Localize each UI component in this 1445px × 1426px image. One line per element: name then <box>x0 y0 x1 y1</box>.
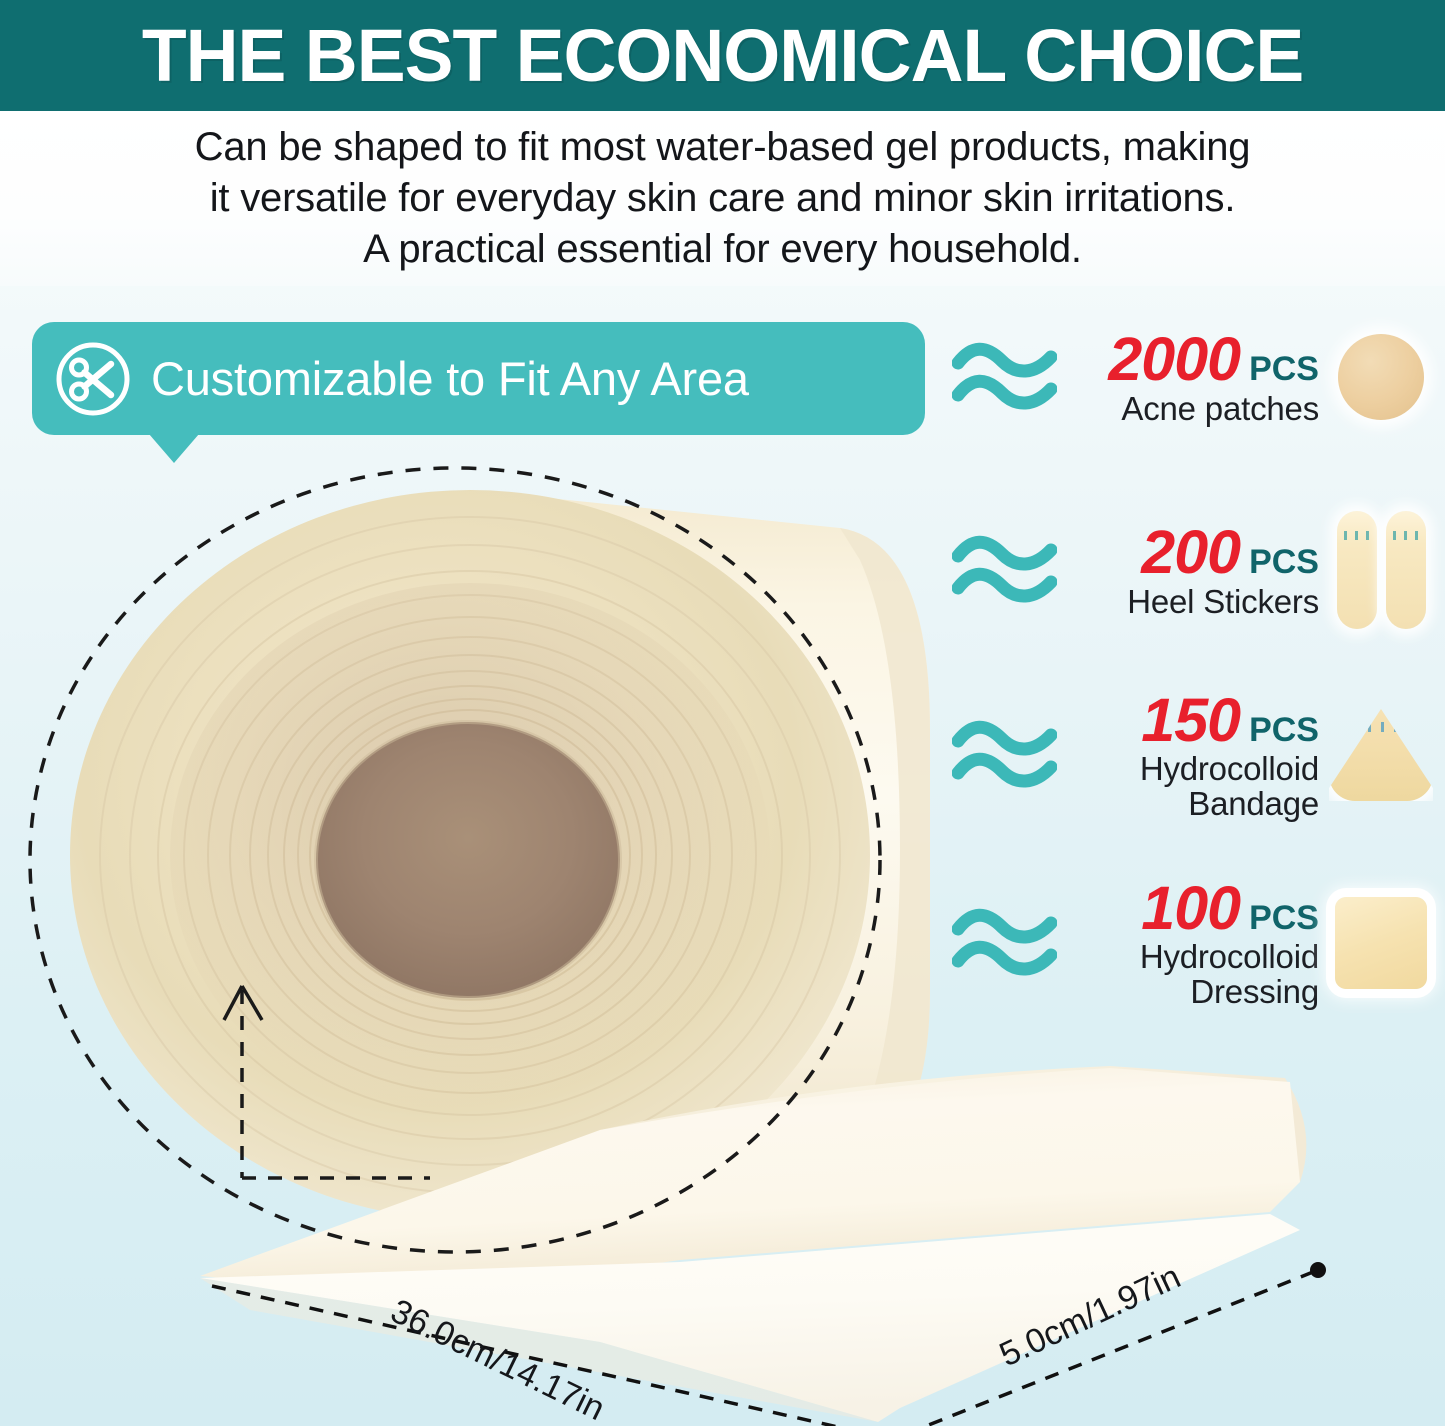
spec-label: Acne patches <box>1121 391 1319 426</box>
scissors-icon <box>54 340 132 418</box>
subtitle-line-3: A practical essential for every househol… <box>363 224 1082 275</box>
customizable-badge[interactable]: Customizable to Fit Any Area <box>32 322 925 435</box>
spec-item-hydrocolloid-dressing: 100 PCS Hydrocolloid Dressing <box>952 868 1440 1018</box>
page-title: THE BEST ECONOMICAL CHOICE <box>142 19 1303 93</box>
square-dressing-icon <box>1335 897 1427 989</box>
header-banner: THE BEST ECONOMICAL CHOICE <box>0 0 1445 111</box>
spec-thumbnail-acne-patch <box>1325 334 1437 420</box>
product-infographic: THE BEST ECONOMICAL CHOICE Can be shaped… <box>0 0 1445 1426</box>
heel-strip-left <box>1337 511 1377 629</box>
wave-icon <box>952 341 1057 413</box>
subtitle-line-2: it versatile for everyday skin care and … <box>210 173 1236 224</box>
badge-tail <box>149 434 199 463</box>
badge-label: Customizable to Fit Any Area <box>151 351 749 406</box>
wave-icon <box>952 534 1057 606</box>
spec-label-line1: Hydrocolloid <box>1140 751 1319 786</box>
spec-unit: PCS <box>1249 899 1319 938</box>
spec-quantity: 100 <box>1141 877 1240 939</box>
wave-icon <box>952 907 1057 979</box>
round-patch-icon <box>1338 334 1424 420</box>
subtitle-line-1: Can be shaped to fit most water-based ge… <box>195 122 1251 173</box>
spec-thumbnail-bandage <box>1325 709 1437 801</box>
spec-item-hydrocolloid-bandage: 150 PCS Hydrocolloid Bandage <box>952 680 1440 830</box>
heel-strips-icon <box>1337 511 1426 629</box>
spec-qty-row: 2000 PCS <box>1108 328 1319 390</box>
subtitle-block: Can be shaped to fit most water-based ge… <box>0 111 1445 286</box>
spec-label-line1: Hydrocolloid <box>1140 939 1319 974</box>
spec-item-heel-stickers: 200 PCS Heel Stickers <box>952 500 1440 640</box>
heel-strip-right <box>1386 511 1426 629</box>
spec-unit: PCS <box>1249 543 1319 582</box>
spec-label: Heel Stickers <box>1127 584 1319 619</box>
spec-quantity: 150 <box>1141 689 1240 751</box>
spec-label-line2: Bandage <box>1188 786 1319 821</box>
spec-unit: PCS <box>1249 350 1319 389</box>
spec-qty-row: 200 PCS <box>1141 521 1319 583</box>
dimension-dot-width-end <box>1310 1262 1326 1278</box>
spec-label-line2: Dressing <box>1190 974 1319 1009</box>
spec-quantity: 2000 <box>1108 328 1240 390</box>
spec-qty-row: 150 PCS <box>1141 689 1319 751</box>
spec-thumbnail-heel-sticker <box>1325 511 1437 629</box>
wave-icon <box>952 719 1057 791</box>
spec-item-acne-patches: 2000 PCS Acne patches <box>952 322 1440 432</box>
spec-qty-row: 100 PCS <box>1141 877 1319 939</box>
spec-thumbnail-dressing <box>1325 897 1437 989</box>
spec-quantity: 200 <box>1141 521 1240 583</box>
triangle-bandage-icon <box>1329 709 1433 801</box>
spec-unit: PCS <box>1249 711 1319 750</box>
